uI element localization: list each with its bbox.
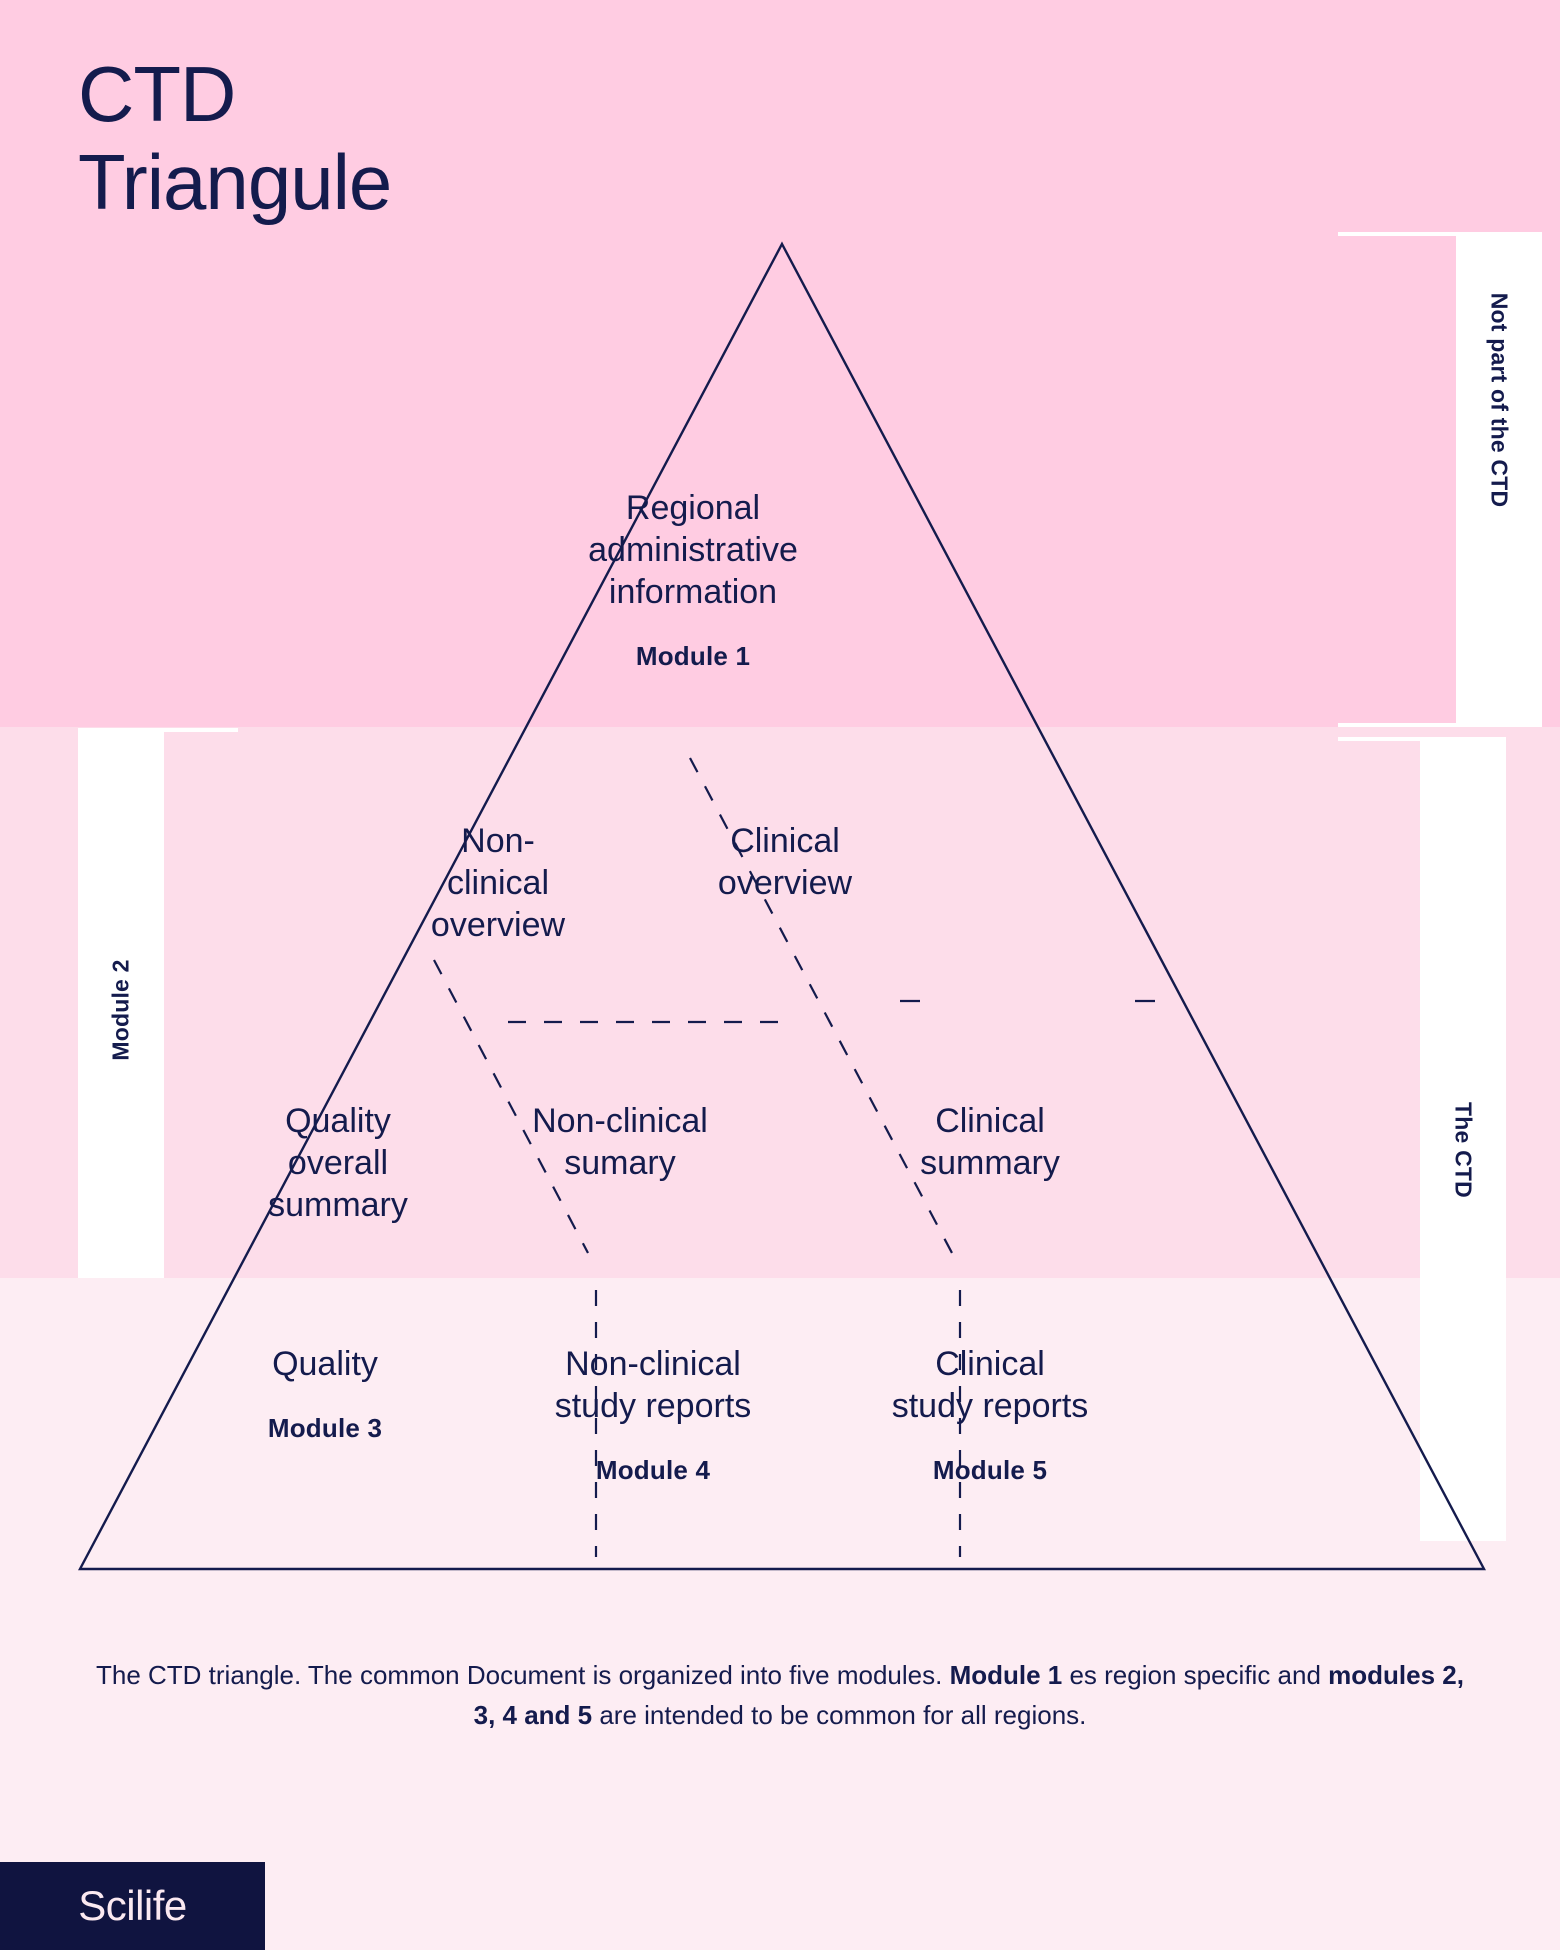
figure-caption: The CTD triangle. The common Document is… [90, 1655, 1470, 1735]
cell-module-5: Clinical study reports Module 5 [840, 1343, 1140, 1491]
cell-nonclinical-summary-text: Non-clinical sumary [532, 1102, 708, 1182]
cell-module-1: Regional administrative information Modu… [563, 487, 823, 677]
cell-module-4-label: Module 4 [498, 1449, 808, 1491]
cell-clinical-summary: Clinical summary [840, 1100, 1140, 1184]
caption-bold-module-1: Module 1 [950, 1660, 1063, 1690]
caption-part-1: The CTD triangle. The common Document is… [96, 1660, 950, 1690]
cell-module-3-text: Quality [272, 1345, 378, 1383]
caption-part-3: are intended to be common for all region… [592, 1700, 1086, 1730]
scilife-logo-text: Scilife [78, 1882, 187, 1930]
cell-module-1-text: Regional administrative information [588, 489, 798, 611]
cell-module-5-label: Module 5 [840, 1449, 1140, 1491]
cell-clinical-overview-text: Clinical overview [718, 822, 852, 902]
cell-nonclinical-overview: Non- clinical overview [398, 820, 598, 946]
cell-clinical-overview: Clinical overview [660, 820, 910, 904]
cell-module-4: Non-clinical study reports Module 4 [498, 1343, 808, 1491]
caption-part-2: es region specific and [1062, 1660, 1328, 1690]
cell-module-1-label: Module 1 [563, 635, 823, 677]
cell-clinical-summary-text: Clinical summary [920, 1102, 1060, 1182]
cell-module-3-label: Module 3 [180, 1407, 470, 1449]
cell-nonclinical-overview-text: Non- clinical overview [431, 822, 565, 944]
cell-module-4-text: Non-clinical study reports [555, 1345, 752, 1425]
scilife-logo: Scilife [0, 1862, 265, 1950]
cell-module-3: Quality Module 3 [180, 1343, 470, 1449]
cell-module-5-text: Clinical study reports [892, 1345, 1089, 1425]
cell-quality-overall-summary: Quality overall summary [228, 1100, 448, 1226]
cell-nonclinical-summary: Non-clinical sumary [470, 1100, 770, 1184]
cell-quality-overall-summary-text: Quality overall summary [268, 1102, 408, 1224]
